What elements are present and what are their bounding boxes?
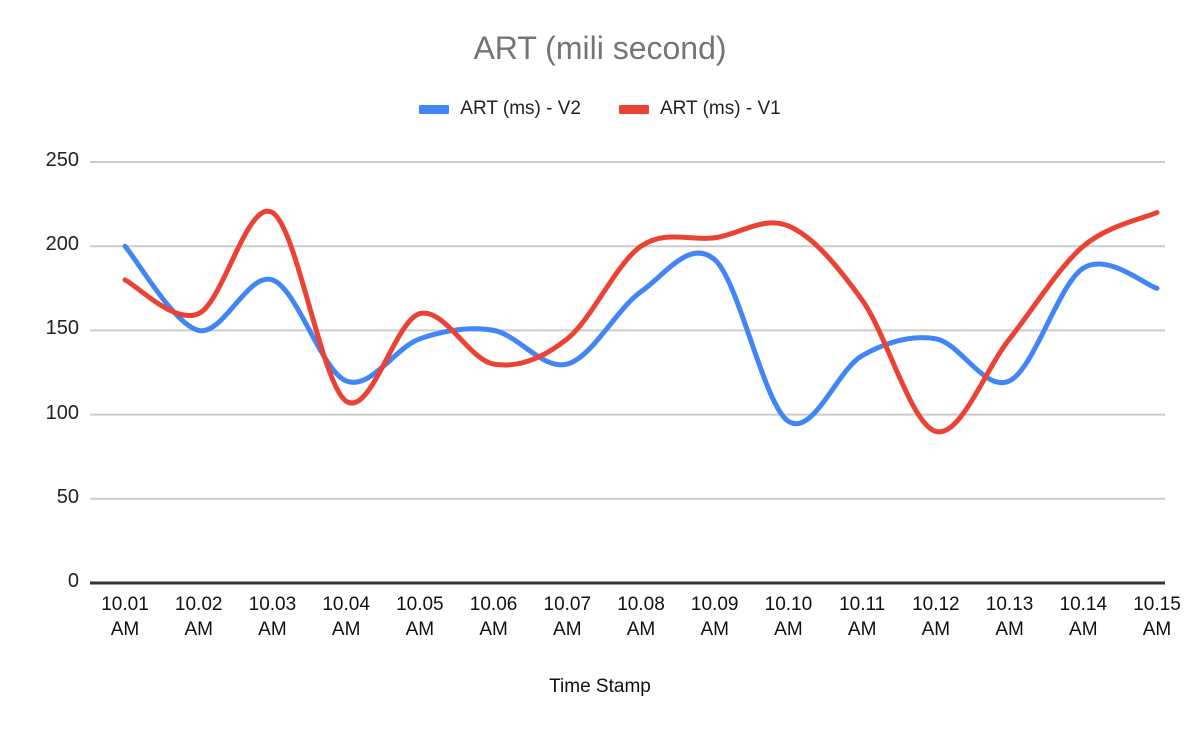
chart-container: ART (mili second) ART (ms) - V2 ART (ms)… [0,0,1200,742]
x-axis-title: Time Stamp [0,676,1200,698]
plot-area: 050100150200250 10.01AM10.02AM10.03AM10.… [0,0,1200,742]
series-line-v2 [125,246,1157,424]
series-line-v1 [125,211,1157,432]
y-tick-label: 100 [24,402,79,425]
series-lines [125,211,1157,432]
gridlines [90,162,1165,499]
y-tick-label: 0 [24,570,79,593]
y-tick-label: 150 [24,317,79,340]
x-tick-label-line: AM [1112,617,1200,642]
x-tick-label: 10.15AM [1112,592,1200,642]
y-tick-label: 50 [24,486,79,509]
y-tick-label: 250 [24,149,79,172]
y-tick-label: 200 [24,233,79,256]
x-tick-label-line: 10.15 [1112,592,1200,617]
